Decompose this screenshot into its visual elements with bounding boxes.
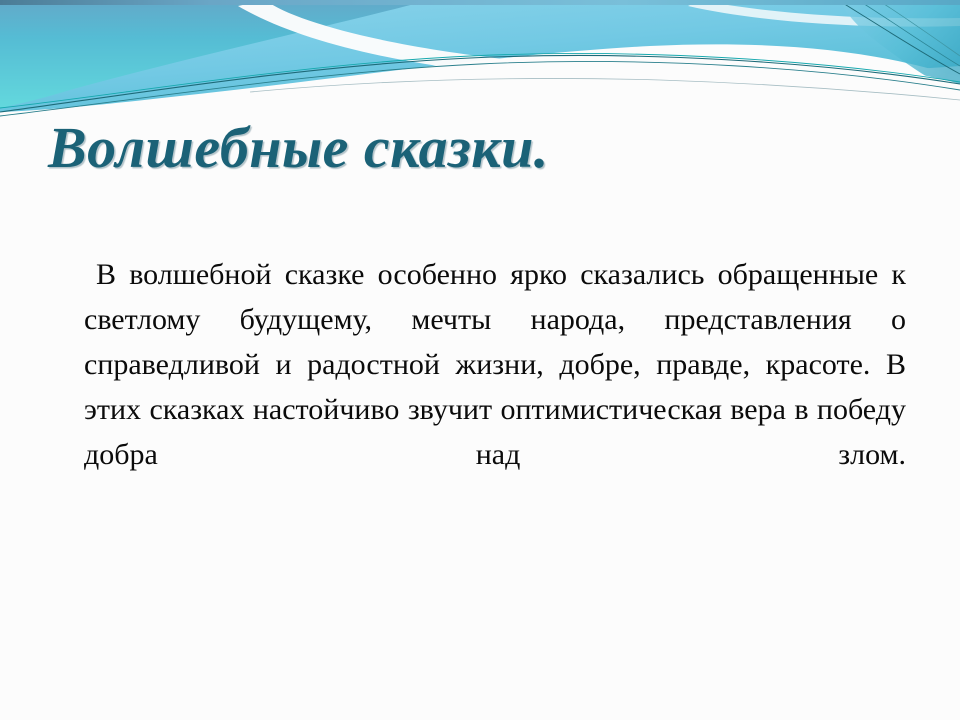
presentation-slide: Волшебные сказки. В волшебной сказке осо…	[0, 0, 960, 720]
thin-curve-1	[0, 56, 960, 112]
thin-diagonal-3	[878, 0, 960, 56]
teal-wedge-left	[0, 0, 430, 108]
thin-curve-3	[0, 54, 960, 108]
banner-background	[0, 0, 960, 120]
blue-wave-band	[0, 0, 960, 112]
body-paragraph: В волшебной сказке особенно ярко сказали…	[84, 252, 906, 522]
banner-white-base	[0, 56, 960, 120]
wave-banner-decoration	[0, 0, 960, 120]
thin-diagonal-2	[858, 0, 960, 66]
body-placeholder: В волшебной сказке особенно ярко сказали…	[84, 252, 906, 522]
thin-curve-4	[250, 79, 960, 101]
thin-curve-2	[0, 62, 960, 116]
page-title: Волшебные сказки.	[0, 112, 960, 184]
thin-diagonal-1	[838, 0, 960, 74]
top-strip	[0, 0, 960, 5]
white-sliver	[238, 0, 960, 88]
right-descending-band	[840, 0, 960, 96]
wave-banner-svg	[0, 0, 960, 120]
white-sliver-upper	[688, 0, 960, 27]
title-placeholder: Волшебные сказки.	[0, 112, 960, 192]
